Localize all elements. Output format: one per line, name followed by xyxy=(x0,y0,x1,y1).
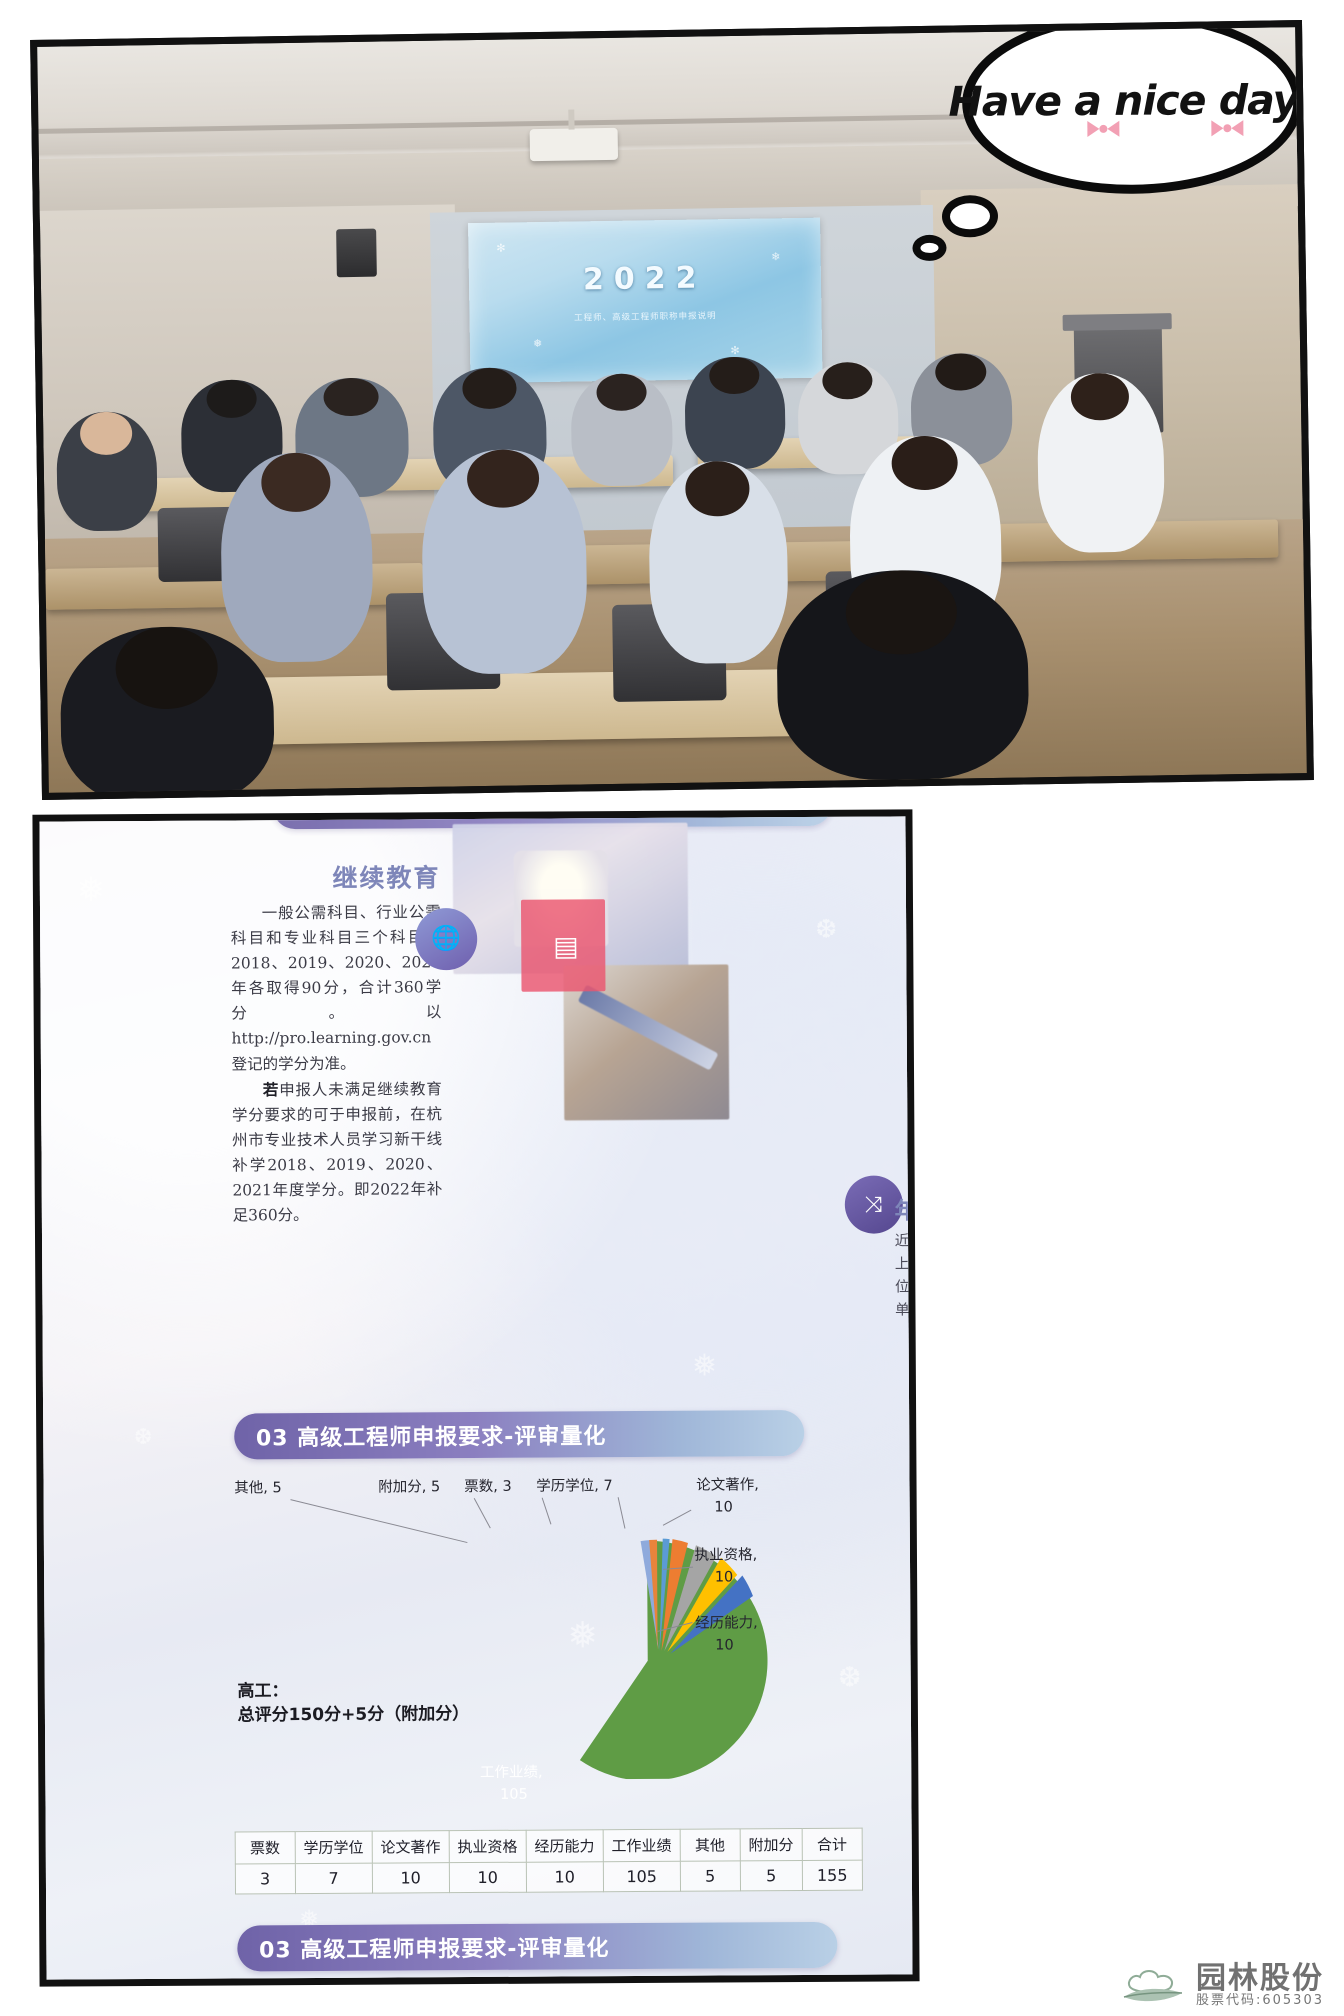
pie-label-experience-line1: 经历能力, xyxy=(695,1614,758,1633)
attendee xyxy=(648,460,790,664)
leader-line xyxy=(473,1498,490,1528)
ceiling-projector xyxy=(529,127,618,161)
attendee-foreground xyxy=(775,569,1030,782)
speech-bubble-text: Have a nice day! xyxy=(948,76,1314,126)
screen-subtitle: 工程师、高级工程师职称申报说明 xyxy=(469,307,821,325)
table-header-cell: 其他 xyxy=(680,1829,740,1861)
table-header-cell: 经历能力 xyxy=(526,1830,603,1862)
snowflake-icon: ✻ xyxy=(730,344,739,357)
table-header-cell: 附加分 xyxy=(740,1828,802,1860)
continuing-education-paragraph-1: 一般公需科目、行业公需科目和专业科目三个科目在2018、2019、2020、20… xyxy=(231,900,442,1077)
pie-label-bonus: 附加分, 5 xyxy=(378,1478,440,1497)
annual-assessment-paragraph: 近4年的年度考核应为合格及以上（有统一表格），年中涉及单位变动的，提供当年年底所… xyxy=(895,1229,920,1323)
watermark-company-name: 园林股份 xyxy=(1196,1963,1324,1995)
watermark-text: 园林股份 股票代码:605303 xyxy=(1196,1963,1324,2008)
table-header-cell: 学历学位 xyxy=(295,1831,372,1863)
snowflake-icon: ❅ xyxy=(76,870,105,910)
bow-icon xyxy=(1207,116,1247,140)
attendee-foreground xyxy=(59,625,276,793)
pie-label-degree: 学历学位, 7 xyxy=(536,1477,613,1496)
slide-background: ❅ ❆ ❅ ❆ ❅ ❆ ❅ 02 工程师申报要求-基本要求 继续教育 一般公需科… xyxy=(32,809,919,1986)
continuing-education-heading: 继续教育 xyxy=(230,858,440,895)
table-header-cell: 执业资格 xyxy=(449,1830,526,1862)
table-value-cell: 10 xyxy=(526,1862,603,1892)
bow-icon xyxy=(1083,117,1123,141)
table-value-cell: 105 xyxy=(603,1861,680,1891)
attendee xyxy=(220,452,374,663)
summary-text: 高工： 总评分150分+5分（附加分） xyxy=(237,1678,487,1729)
pie-label-work-line2: 105 xyxy=(500,1786,528,1804)
table-value-cell: 7 xyxy=(295,1863,372,1893)
snowflake-icon: ❆ xyxy=(815,914,837,945)
continuing-education-paragraph-2: 若申报人未满足继续教育学分要求的可于申报前，在杭州市专业技术人员学习新干线补学2… xyxy=(232,1076,443,1229)
slide-section-bar-bottom: 03 高级工程师申报要求-评审量化 xyxy=(237,1922,837,1972)
table-header-cell: 论文著作 xyxy=(372,1831,449,1863)
table-value-cell: 3 xyxy=(235,1863,295,1893)
classroom-photo-panel: ✻ ❄ ❅ ✻ 2022 工程师、高级工程师职称申报说明 xyxy=(30,20,1314,800)
books-icon: ▤ xyxy=(545,927,587,967)
globe-icon: 🌐 xyxy=(415,908,477,970)
summary-line-2: 总评分150分+5分（附加分） xyxy=(238,1702,488,1728)
attendee-raising-hand xyxy=(1036,372,1165,553)
ppt-slide-panel: ❅ ❆ ❅ ❆ ❅ ❆ ❅ 02 工程师申报要求-基本要求 继续教育 一般公需科… xyxy=(32,809,919,1986)
table-value-cell: 10 xyxy=(372,1863,449,1893)
table-header-cell: 合计 xyxy=(802,1828,862,1860)
watermark-stock-code: 股票代码:605303 xyxy=(1196,1994,1324,2008)
annual-assessment-block: 年度考核 近4年的年度考核应为合格及以上（有统一表格），年中涉及单位变动的，提供… xyxy=(894,1190,919,1323)
pie-label-papers-line2: 10 xyxy=(714,1498,733,1516)
pie-label-other: 其他, 5 xyxy=(234,1479,282,1497)
leader-line xyxy=(541,1497,551,1524)
wall-speaker xyxy=(336,228,377,277)
snowflake-icon: ❅ xyxy=(692,1348,717,1383)
pie-label-experience-line2: 10 xyxy=(715,1636,734,1654)
pie-label-cert-line1: 执业资格, xyxy=(695,1546,758,1565)
snowflake-icon: ❅ xyxy=(533,337,542,350)
attendee xyxy=(56,411,158,532)
attendee xyxy=(684,356,786,469)
attendee xyxy=(571,373,673,486)
projection-screen: ✻ ❄ ❅ ✻ 2022 工程师、高级工程师职称申报说明 xyxy=(468,217,823,383)
score-table: 票数学历学位论文著作执业资格经历能力工作业绩其他附加分合计 3710101010… xyxy=(234,1827,862,1894)
pie-label-work-line1: 工作业绩, xyxy=(480,1763,543,1782)
table-value-cell: 10 xyxy=(449,1862,526,1892)
attendee xyxy=(421,449,588,675)
tree-leaf-logo-icon xyxy=(1120,1963,1186,2007)
table-value-cell: 5 xyxy=(680,1861,740,1891)
watermark: 园林股份 股票代码:605303 xyxy=(1120,1963,1324,2008)
table-header-cell: 工作业绩 xyxy=(603,1829,680,1861)
summary-line-1: 高工： xyxy=(237,1678,487,1704)
table-header-cell: 票数 xyxy=(235,1831,295,1863)
table-value-cell: 5 xyxy=(740,1860,802,1890)
continuing-education-block: 继续教育 一般公需科目、行业公需科目和专业科目三个科目在2018、2019、20… xyxy=(230,858,442,1229)
screen-year: 2022 xyxy=(468,259,821,300)
table-value-row: 3710101010555155 xyxy=(235,1860,862,1894)
pie-label-votes: 票数, 3 xyxy=(464,1478,512,1496)
paragraph-lead: 若 xyxy=(263,1080,279,1099)
leader-line xyxy=(290,1499,467,1543)
slide-section-bar-middle: 03 高级工程师申报要求-评审量化 xyxy=(234,1410,804,1459)
snowflake-icon: ❆ xyxy=(134,1424,153,1450)
table-header-row: 票数学历学位论文著作执业资格经历能力工作业绩其他附加分合计 xyxy=(235,1828,862,1864)
snowflake-icon: ✻ xyxy=(496,242,505,255)
page-root: ✻ ❄ ❅ ✻ 2022 工程师、高级工程师职称申报说明 xyxy=(0,0,1344,2016)
paragraph-rest: 申报人未满足继续教育学分要求的可于申报前，在杭州市专业技术人员学习新干线补学20… xyxy=(232,1080,443,1225)
annual-assessment-heading: 年度考核 xyxy=(894,1190,919,1225)
pie-label-cert-line2: 10 xyxy=(715,1568,734,1586)
table-value-cell: 155 xyxy=(802,1860,862,1890)
pie-label-papers-line1: 论文著作, xyxy=(696,1476,759,1495)
